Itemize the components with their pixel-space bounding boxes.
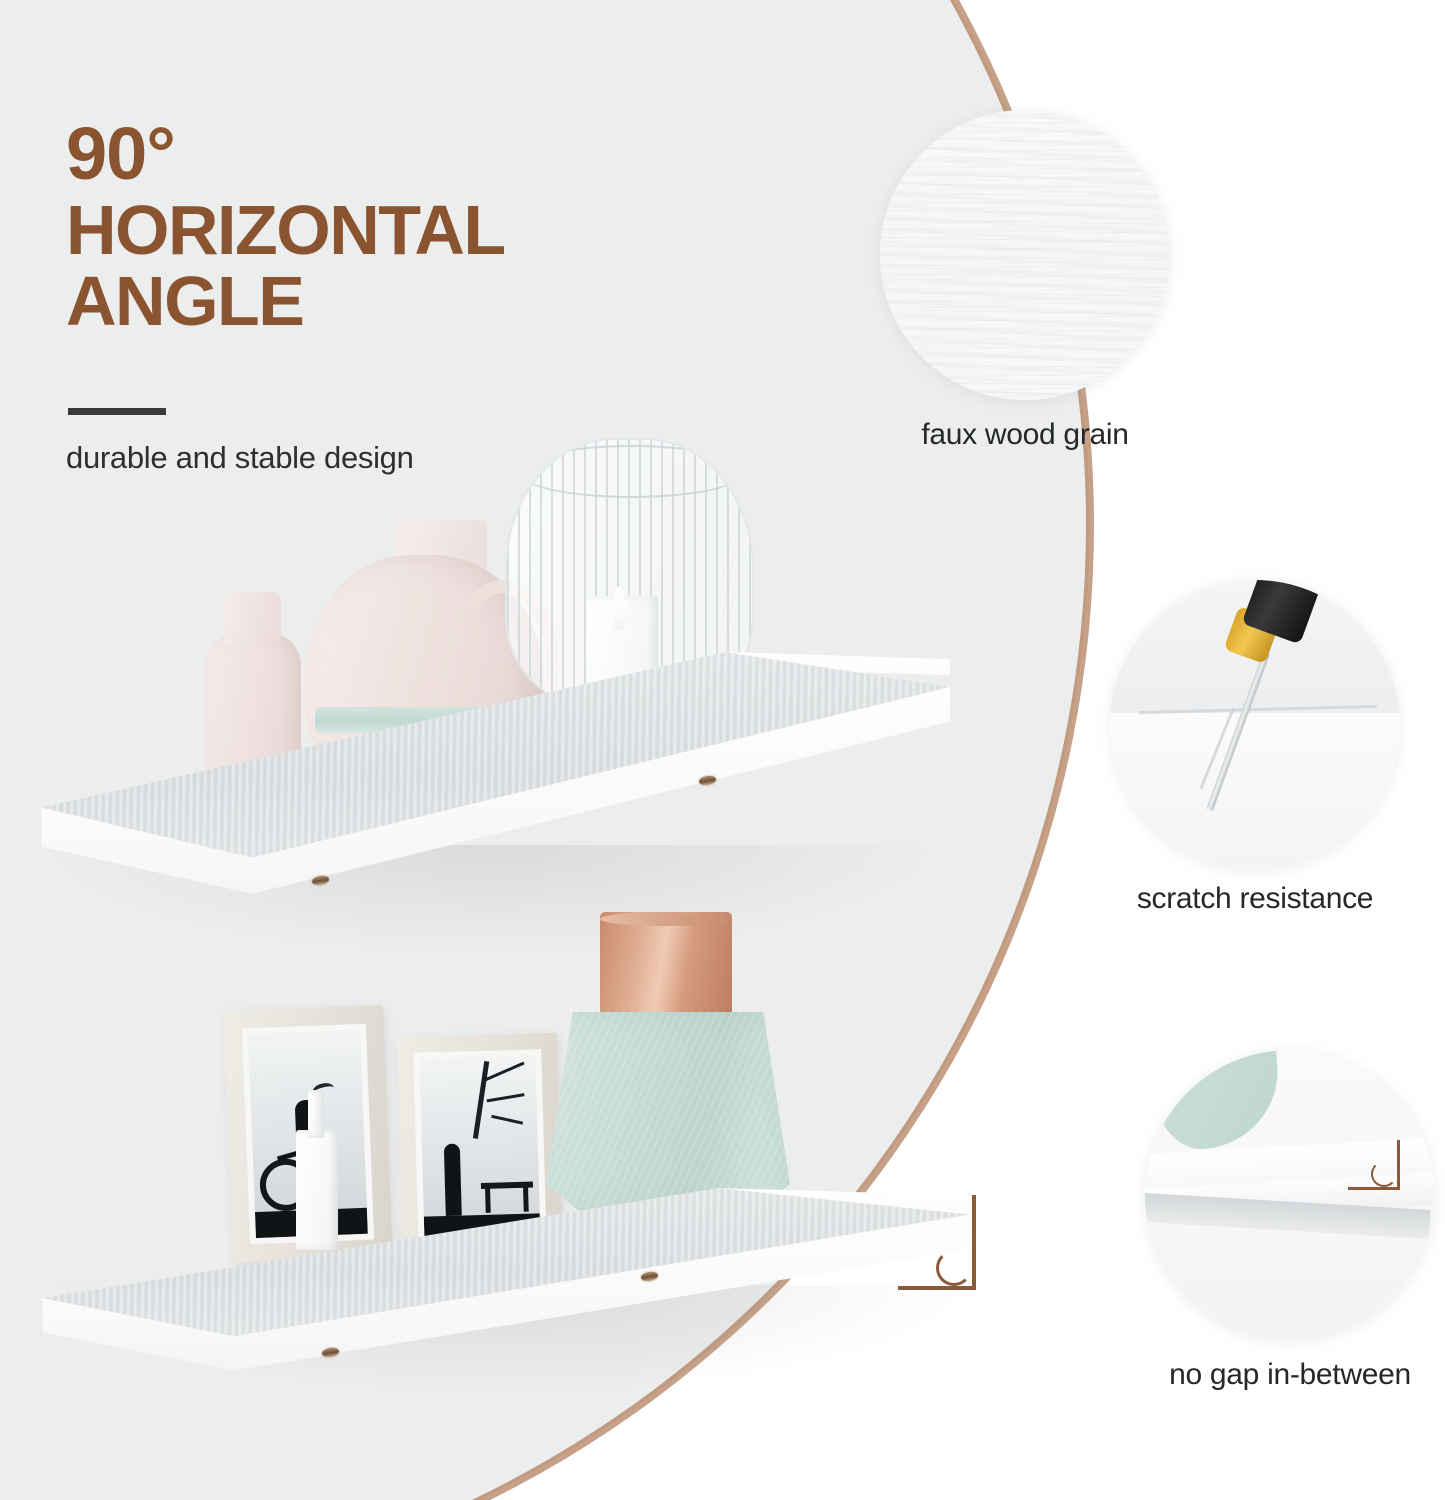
- headline-line-2: ANGLE: [66, 266, 686, 337]
- right-angle-vertical-leg: [972, 1195, 976, 1290]
- headline-degree: 90°: [66, 118, 686, 191]
- hurricane-rim: [517, 445, 746, 497]
- mint-vase-texture: [546, 1012, 790, 1212]
- scratch-surface-lower: [1110, 713, 1400, 870]
- photo-2-bench-leg-a: [485, 1187, 491, 1213]
- headline-divider: [68, 408, 166, 415]
- callout-label-scratch-resistance: scratch resistance: [1100, 882, 1410, 916]
- callout-label-faux-wood-grain: faux wood grain: [890, 418, 1160, 452]
- photo-2-bench-leg-b: [523, 1186, 529, 1212]
- photo-bench-scene: [419, 1055, 540, 1246]
- headline-line-1: HORIZONTAL: [66, 191, 505, 269]
- headline-main: HORIZONTAL ANGLE: [66, 195, 686, 338]
- white-bottle-neck: [308, 1090, 324, 1138]
- headline-block: 90° HORIZONTAL ANGLE: [66, 118, 686, 337]
- right-angle-arc-icon: [936, 1250, 972, 1286]
- no-gap-angle-arc-icon: [1371, 1161, 1397, 1187]
- right-angle-marker: [898, 1195, 976, 1290]
- no-gap-angle-horizontal-leg: [1348, 1187, 1400, 1190]
- callout-label-no-gap-in-between: no gap in-between: [1135, 1358, 1445, 1392]
- mint-tapered-vase: [546, 1012, 790, 1212]
- small-vase-neck: [225, 592, 281, 644]
- white-bottle: [296, 1130, 338, 1250]
- screwdriver-icon: [1110, 580, 1400, 870]
- wood-grain-texture-overlay: [880, 110, 1170, 400]
- vase-copper-top: [600, 912, 732, 1020]
- vase-copper-lip: [600, 912, 732, 926]
- shelf-edge-angle-icon: [1145, 1050, 1435, 1340]
- no-gap-angle-vertical-leg: [1397, 1140, 1400, 1190]
- wood-grain-swatch-icon: [880, 110, 1170, 400]
- photo-2-person-silhouette: [444, 1144, 462, 1216]
- no-gap-right-angle-marker: [1348, 1140, 1400, 1190]
- headline-subtitle: durable and stable design: [66, 440, 414, 476]
- product-feature-image: 90° HORIZONTAL ANGLE durable and stable …: [0, 0, 1445, 1500]
- right-angle-horizontal-leg: [898, 1286, 976, 1290]
